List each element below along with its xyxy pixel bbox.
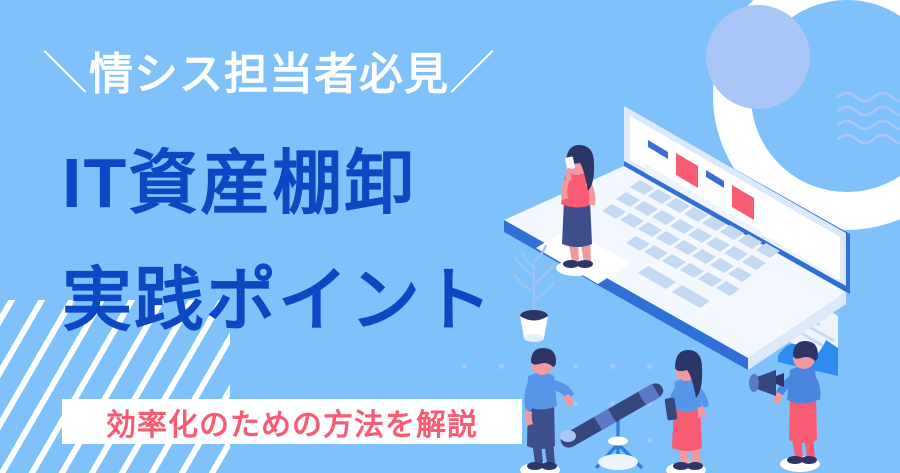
promo-banner: ＼情シス担当者必見／ IT資産棚卸 実践ポイント 効率化のための方法を解説 (0, 0, 900, 473)
eyebrow-text: ＼情シス担当者必見／ (42, 42, 522, 104)
page-title-line-2: 実践ポイント (62, 257, 494, 343)
character-man-with-telescope (520, 348, 663, 473)
character-woman-with-tablet (665, 350, 709, 473)
slash-left-icon: ＼ (42, 47, 89, 99)
potted-plant-icon (514, 245, 554, 342)
slash-right-icon: ／ (449, 47, 496, 99)
subtitle-text: 効率化のための方法を解説 (62, 399, 522, 444)
eyebrow-label: 情シス担当者必見 (89, 50, 449, 99)
isometric-laptop-illustration (490, 40, 900, 473)
page-title-line-1: IT資産棚卸 (62, 140, 416, 226)
laptop-graphic (504, 106, 850, 376)
